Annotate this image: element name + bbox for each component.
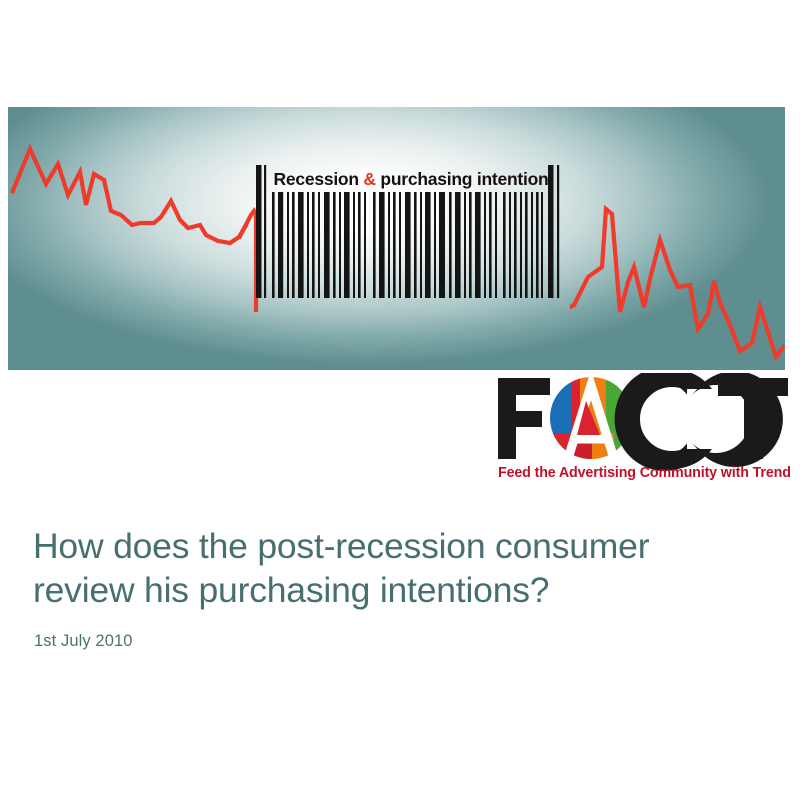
- presentation-date: 1st July 2010: [34, 631, 763, 651]
- title-slide: Recession & purchasing intention: [0, 0, 800, 800]
- barcode-label: Recession & purchasing intention: [265, 167, 557, 191]
- page-title: How does the post-recession consumer rev…: [33, 524, 763, 612]
- barcode-label-suffix: purchasing intention: [376, 169, 549, 189]
- barcode-label-ampersand: &: [363, 169, 375, 189]
- barcode-label-prefix: Recession: [274, 169, 364, 189]
- hero-banner: Recession & purchasing intention: [8, 107, 785, 370]
- logo-tagline: Feed the Advertising Community with Tren…: [498, 465, 790, 481]
- logo-letter-f: [498, 378, 550, 459]
- fact-logo-svg: Feed the Advertising Community with Tren…: [494, 373, 790, 481]
- title-block: How does the post-recession consumer rev…: [33, 524, 763, 651]
- trend-line-right: [560, 209, 785, 357]
- barcode-graphic: Recession & purchasing intention: [245, 165, 573, 298]
- trend-line-left: [12, 149, 260, 243]
- fact-logo: Feed the Advertising Community with Tren…: [494, 373, 790, 481]
